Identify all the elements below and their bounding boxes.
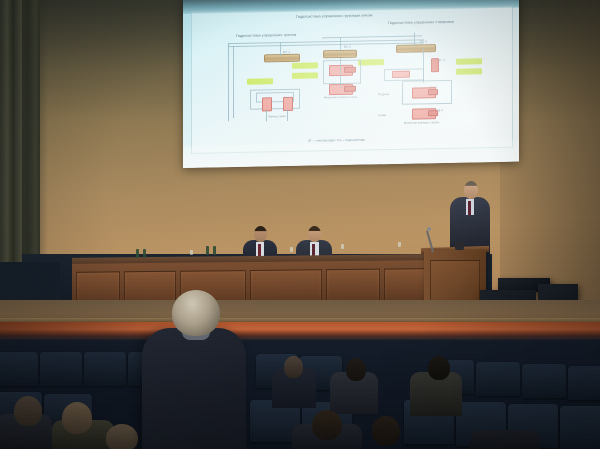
audience-head: [312, 410, 342, 440]
highlight-box: [292, 62, 318, 68]
water-bottle: [213, 246, 216, 255]
caption-left: Привод трапа: [268, 115, 286, 118]
presenter-head: [308, 226, 321, 242]
node-label: БУ-2: [344, 45, 351, 49]
podium-equipment: [455, 242, 464, 250]
cylinder-block: [262, 97, 272, 111]
diagram-riser: [423, 48, 424, 82]
node-label: БУ-3: [420, 39, 427, 43]
highlight-box: [292, 72, 318, 78]
audience-head: [346, 358, 366, 381]
slide-title-center: Гидросистема управления грузовым люком: [296, 13, 372, 18]
diagram-riser: [280, 42, 281, 56]
diagram-bus-line: [322, 35, 422, 38]
actuator-rod: [344, 86, 356, 92]
actuator-rod: [344, 67, 356, 73]
empty-seat: [40, 352, 82, 386]
cylinder-block: [283, 97, 293, 111]
presenter-head: [254, 226, 267, 242]
diagram-riser: [233, 46, 234, 118]
diagram-riser: [287, 109, 288, 121]
audience-head: [14, 396, 42, 426]
highlight-box: [247, 78, 273, 84]
presenter-tie: [312, 244, 315, 256]
speaker-tie: [468, 201, 471, 215]
valve-block: [392, 71, 410, 78]
node-label: Подача: [378, 92, 389, 96]
water-glass: [290, 247, 293, 252]
diagram-riser: [340, 58, 341, 88]
audience-head: [428, 356, 450, 380]
slide-canvas: Гидросистема управления грузовым люком Г…: [191, 6, 513, 154]
caption-right: Механизм привода створок: [404, 121, 439, 125]
diagram-riser: [266, 109, 267, 121]
projection-screen: Гидросистема управления грузовым люком Г…: [183, 0, 519, 168]
valve-block: [431, 58, 439, 72]
conference-hall-photo: Гидросистема управления грузовым люком Г…: [0, 0, 600, 449]
node-label: ЭГ-1: [438, 58, 445, 62]
diagram-riser: [228, 43, 229, 121]
water-bottle: [143, 249, 146, 258]
audience-head: [106, 424, 138, 449]
highlight-box: [456, 68, 482, 74]
empty-seat: [0, 352, 38, 386]
highlight-box: [456, 58, 482, 64]
slide-title-left: Гидросистема управления трапом: [236, 33, 296, 38]
water-bottle: [206, 246, 209, 255]
slide-title-right: Гидросистема управления створками: [388, 20, 454, 25]
valve-bar: [396, 44, 436, 53]
water-glass: [398, 242, 401, 247]
audience-head: [284, 356, 303, 378]
actuator-rod: [428, 89, 438, 95]
actuator-rod: [428, 110, 438, 116]
attendee-torso: [142, 328, 246, 449]
diagram-riser: [414, 33, 415, 47]
empty-seat: [568, 366, 600, 400]
node-label: Слив: [378, 113, 386, 117]
attendee-head: [172, 290, 220, 336]
water-glass: [190, 250, 193, 255]
diagram-riser: [340, 38, 341, 52]
empty-seat: [84, 352, 126, 386]
speaker-head: [464, 181, 478, 199]
water-bottle: [136, 249, 139, 258]
caption-center: Механизм открытия люка: [324, 96, 357, 100]
valve-bar: [264, 54, 300, 63]
presenter-tie: [258, 244, 261, 256]
audience-head: [62, 402, 92, 434]
audience-head: [372, 416, 400, 446]
microphone-icon: [427, 227, 431, 231]
water-glass: [341, 244, 344, 249]
empty-seat: [522, 364, 566, 398]
empty-seat: [560, 406, 600, 449]
audience-body: [470, 430, 540, 449]
empty-seat: [476, 362, 520, 396]
highlight-box: [358, 59, 384, 65]
